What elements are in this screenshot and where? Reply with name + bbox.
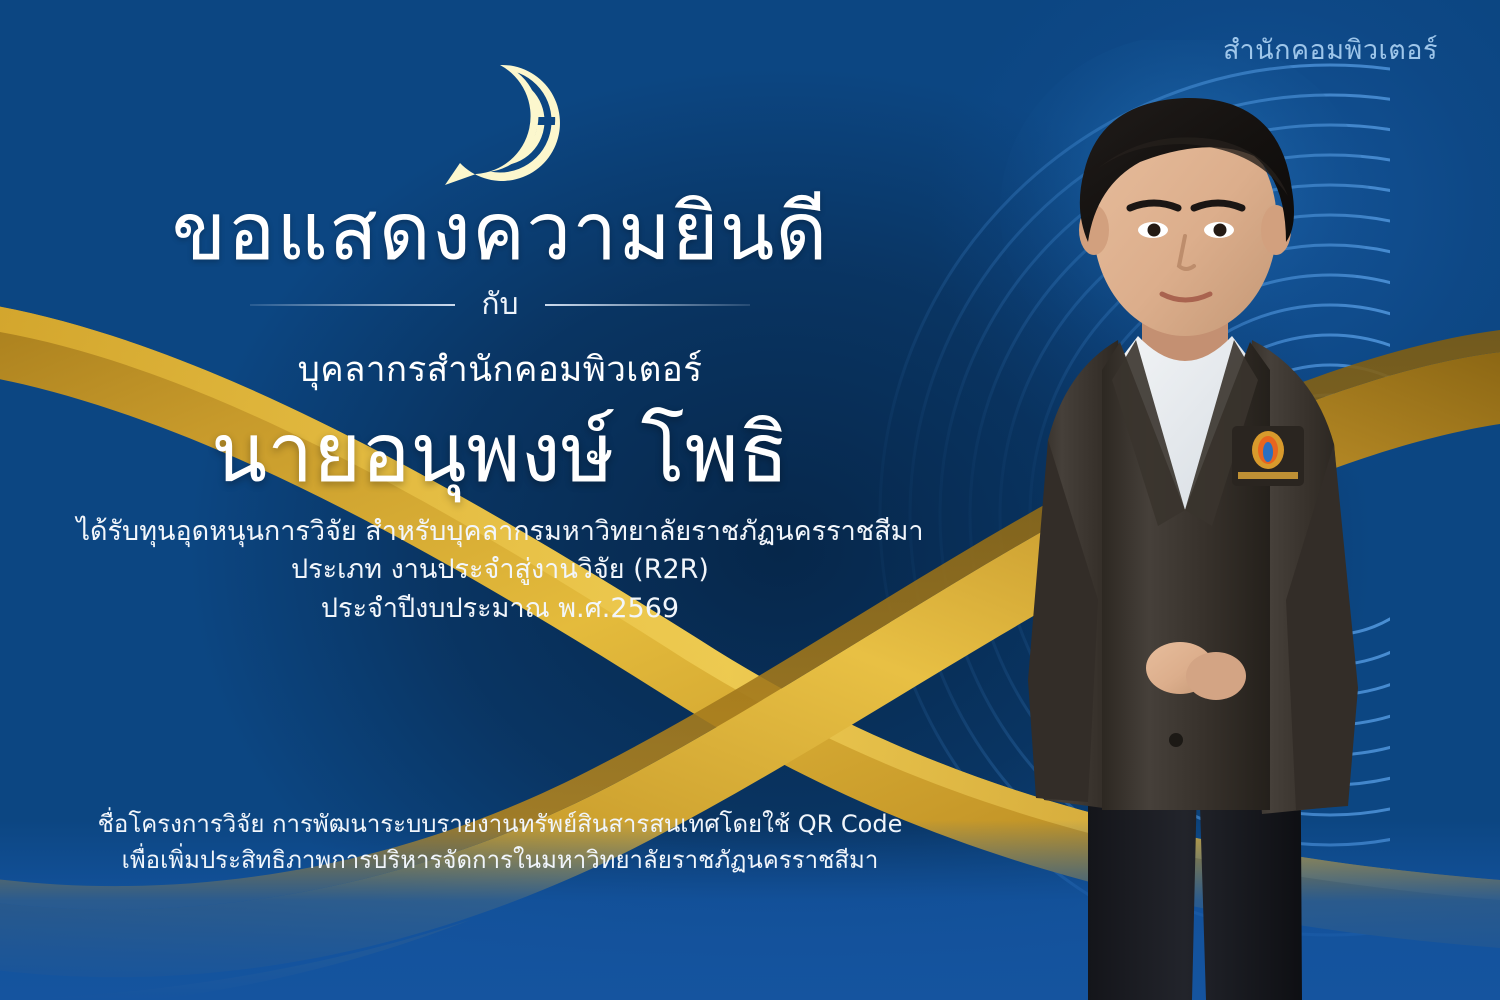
person-portrait [970,40,1440,1000]
page-title: ขอแสดงความยินดี [0,192,1000,272]
logo-wrapper [0,58,1000,188]
divider-line-left [250,304,455,306]
subtitle-label: บุคลากรสำนักคอมพิวเตอร์ [0,342,1000,397]
project-line-2: เพื่อเพิ่มประสิทธิภาพการบริหารจัดการในมห… [0,842,1000,878]
office-tag-label: สำนักคอมพิวเตอร์ [1223,28,1438,71]
award-line-3: ประจำปีงบประมาณ พ.ศ.2569 [0,590,1000,628]
award-line-1: ได้รับทุนอุดหนุนการวิจัย สำหรับบุคลากรมห… [0,513,1000,551]
computer-center-speech-bubble-target-logo [436,59,564,187]
computer-center-badge [1232,426,1304,486]
project-title-block: ชื่อโครงการวิจัย การพัฒนาระบบรายงานทรัพย… [0,806,1000,878]
content-column: ขอแสดงความยินดี กับ บุคลากรสำนักคอมพิวเต… [0,0,1000,628]
congratulations-poster: สำนักคอมพิวเตอร์ [0,0,1500,1000]
award-description: ได้รับทุนอุดหนุนการวิจัย สำหรับบุคลากรมห… [0,513,1000,628]
divider-line-right [545,304,750,306]
divider-row: กับ [0,290,1000,320]
award-line-2: ประเภท งานประจำสู่งานวิจัย (R2R) [0,551,1000,589]
project-line-1: ชื่อโครงการวิจัย การพัฒนาระบบรายงานทรัพย… [0,806,1000,842]
divider-word: กับ [481,290,518,320]
recipient-name: นายอนุพงษ์ โพธิ [0,411,1000,497]
